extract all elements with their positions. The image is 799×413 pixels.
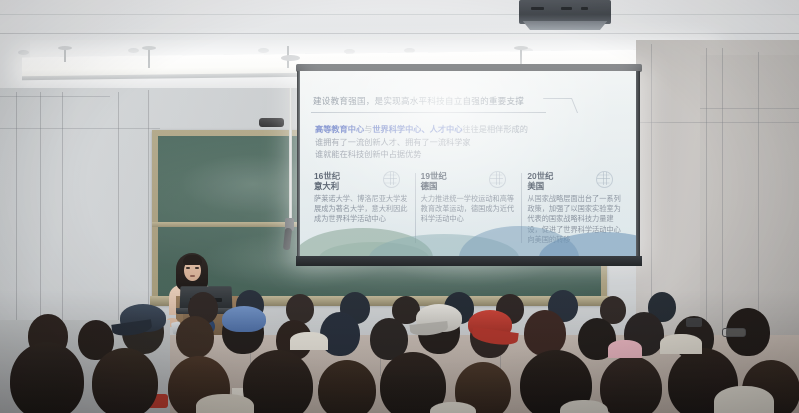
audience-head	[600, 356, 662, 413]
audience-clothing	[714, 386, 774, 413]
ceiling-vent-icon	[258, 48, 269, 53]
screen-bottom-bar	[296, 256, 642, 266]
projector-lens-icon	[581, 7, 588, 10]
hair-clip	[686, 318, 702, 327]
slide-paragraph-line-3: 谁就能在科技创新中占据优势	[315, 149, 625, 162]
column-era: 19世纪	[421, 171, 518, 181]
slide-paragraph-line-2: 谁拥有了一流创新人才、拥有了一流科学家	[315, 137, 625, 150]
column-era: 20世纪	[527, 171, 624, 181]
screen-border-right	[636, 71, 640, 258]
light-hanger-rod	[148, 48, 150, 68]
slide-title-decoration	[543, 98, 578, 113]
slide-title-row: 建设教育强国，是实现高水平科技自立自强的重要支撑	[313, 95, 625, 111]
audience-head	[524, 310, 566, 356]
wall-seam-horizontal	[700, 108, 799, 109]
wall-seam-horizontal	[640, 122, 799, 123]
ceiling-vent-icon	[128, 48, 139, 53]
light-hanger-cap	[514, 46, 528, 50]
audience-clothing	[608, 340, 642, 358]
audience-clothing	[196, 394, 254, 413]
ceiling-projector	[519, 0, 611, 24]
projector-vent-icon	[531, 7, 544, 10]
wall-seam-horizontal	[0, 128, 160, 129]
audience-head	[176, 316, 214, 358]
ceiling-seam	[0, 33, 799, 34]
lecture-hall-photo: 建设教育强国，是实现高水平科技自立自强的重要支撑 高等教育中心与世界科学中心、人…	[0, 0, 799, 413]
microphone-cable	[289, 88, 292, 228]
paragraph-tail: 往往是相伴形成的	[462, 125, 528, 134]
audience-head	[10, 342, 84, 413]
wall-speaker	[259, 118, 284, 127]
presenter-eye	[186, 267, 190, 269]
slide-title: 建设教育强国，是实现高水平科技自立自强的重要支撑	[313, 95, 625, 107]
audience-clothing	[660, 334, 702, 354]
audience-head	[318, 360, 376, 413]
light-hanger-cap	[58, 46, 72, 50]
highlight-term-1: 高等教育中心	[315, 125, 364, 134]
screen-border-left	[297, 71, 300, 258]
slide-paragraph: 高等教育中心与世界科学中心、人才中心往往是相伴形成的 谁拥有了一流创新人才、拥有…	[315, 124, 625, 162]
light-hanger-cap	[142, 46, 156, 50]
presenter-fringe	[183, 255, 202, 265]
slide-paragraph-line-1: 高等教育中心与世界科学中心、人才中心往往是相伴形成的	[315, 124, 625, 137]
audience	[0, 290, 799, 413]
audience-clothing	[290, 332, 328, 350]
audience-head	[92, 348, 158, 413]
column-body: 大力推进统一学校运动和高等教育改革运动，德国成为近代科学活动中心	[421, 194, 518, 225]
light-hanger-rod	[64, 48, 66, 62]
presenter-mouth	[190, 275, 195, 277]
glasses-icon	[722, 328, 746, 337]
mic-ceiling-cap	[281, 55, 300, 61]
column-country: 意大利	[314, 181, 411, 191]
ceiling-seam-upper	[0, 14, 799, 15]
column-country: 美国	[527, 181, 624, 191]
column-era: 16世纪	[314, 171, 411, 181]
ceiling-vent-icon	[18, 50, 29, 55]
highlight-term-2: 世界科学中心、人才中心	[372, 125, 462, 134]
projector-vent-icon	[561, 7, 572, 10]
slide-title-underline	[311, 112, 546, 113]
column-body: 萨莱诺大学、博洛尼亚大学发展成为著名大学，意大利因此成为世界科学活动中心	[314, 194, 411, 225]
column-country: 德国	[421, 181, 518, 191]
wall-seam-horizontal	[0, 96, 110, 97]
presenter-eye	[195, 267, 199, 269]
audience-clothing	[430, 402, 476, 413]
blue-cap	[222, 306, 266, 332]
slide-content: 建设教育强国，是实现高水平科技自立自强的重要支撑 高等教育中心与世界科学中心、人…	[299, 71, 639, 258]
audience-clothing	[560, 400, 608, 413]
projection-screen: 建设教育强国，是实现高水平科技自立自强的重要支撑 高等教育中心与世界科学中心、人…	[299, 71, 639, 258]
projector-front-face	[519, 21, 611, 30]
